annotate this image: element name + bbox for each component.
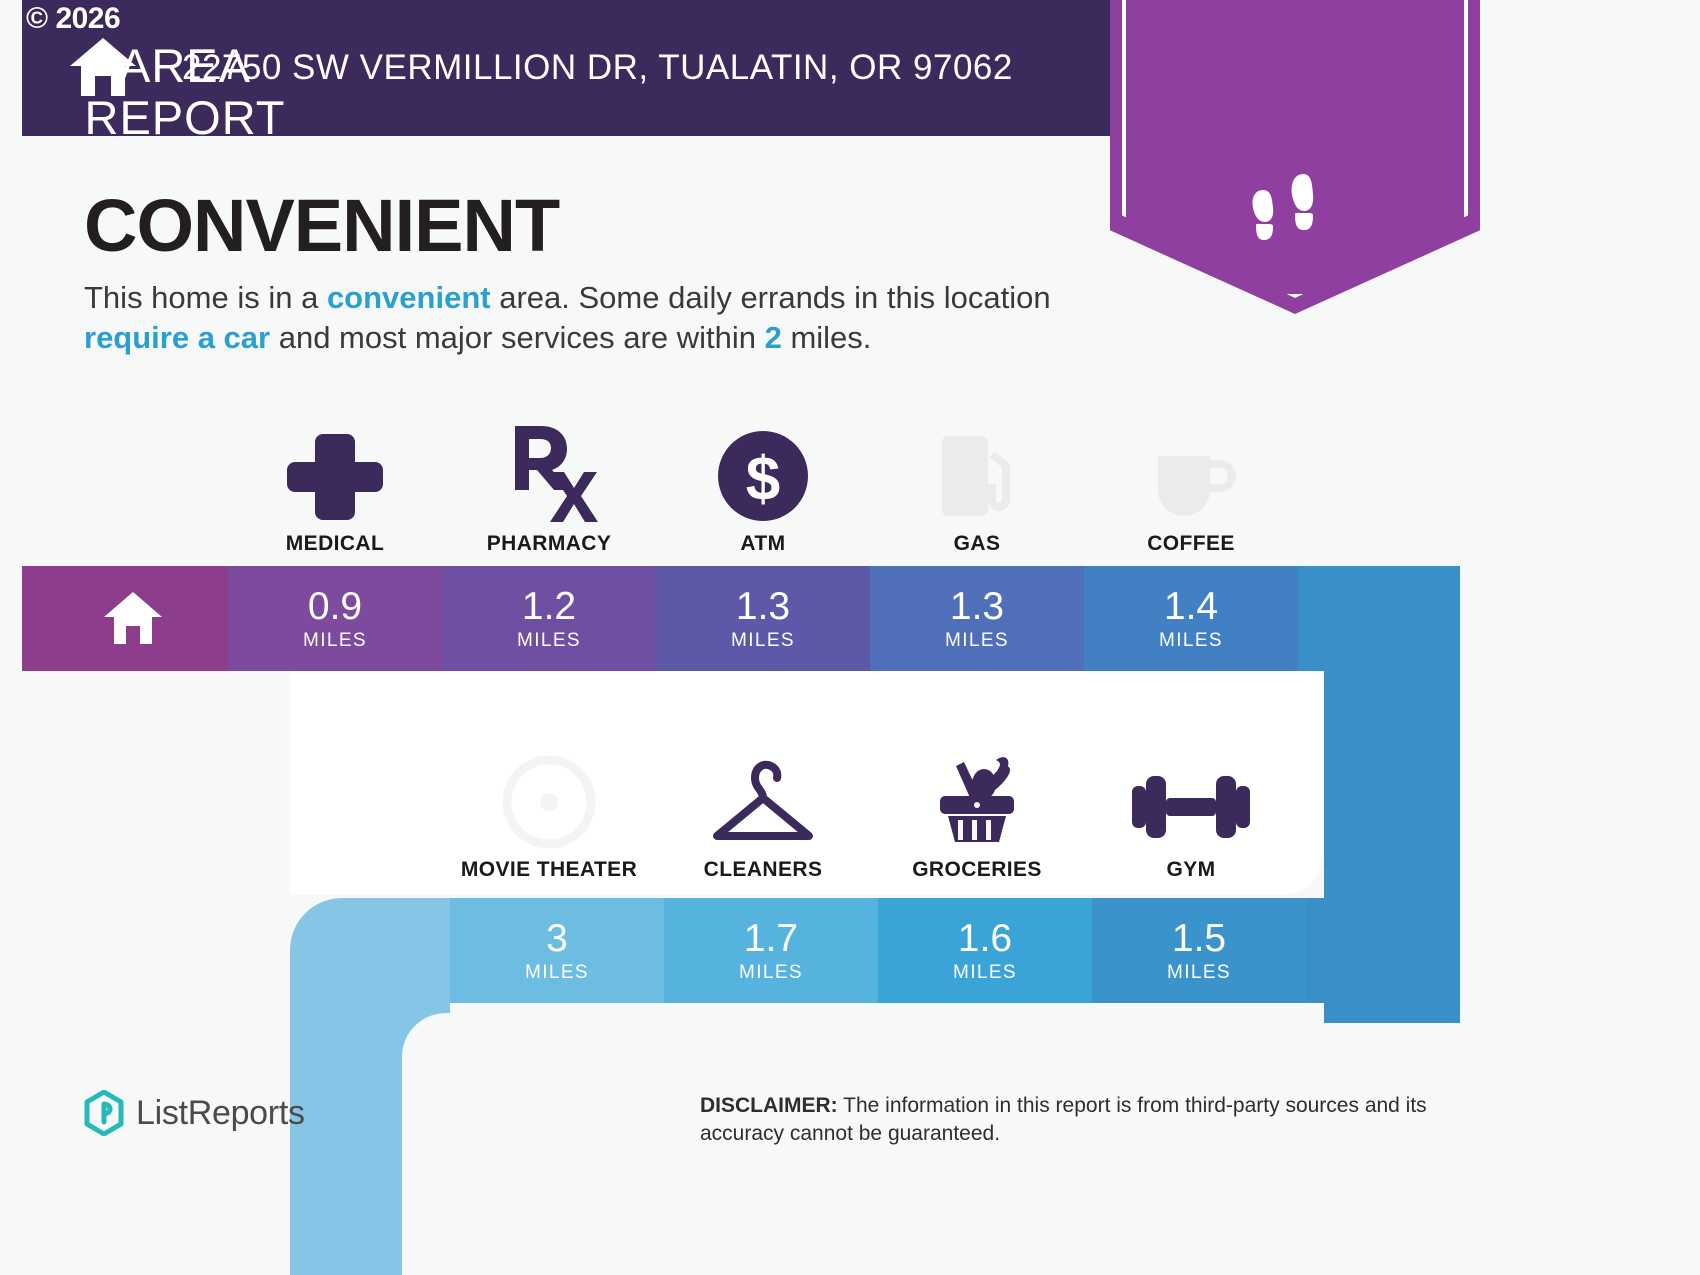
grocery-basket-icon xyxy=(922,750,1032,850)
bar-cell-gas: 1.3 MILES xyxy=(870,566,1084,671)
rx-icon-box xyxy=(442,412,656,524)
description-text: and most major services are within xyxy=(270,320,764,355)
icon-cell-gym: GYM xyxy=(1084,738,1298,882)
area-report-badge xyxy=(1110,0,1480,314)
bar-cell-medical: 0.9 MILES xyxy=(228,566,442,671)
icon-cell-groceries: GROCERIES xyxy=(870,738,1084,882)
gas-pump-icon xyxy=(934,428,1020,524)
hanger-icon xyxy=(703,754,823,850)
listreports-pin-icon xyxy=(84,1090,124,1136)
bar-value-gas: 1.3 xyxy=(870,587,1084,627)
bar-value-gym: 1.5 xyxy=(1092,919,1306,959)
icon-label-coffee: COFFEE xyxy=(1084,532,1298,556)
bar-unit-cleaners: MILES xyxy=(664,962,878,984)
bar-unit-gas: MILES xyxy=(870,630,1084,652)
disclaimer-label: DISCLAIMER: xyxy=(700,1094,838,1117)
medical-cross-icon xyxy=(285,424,385,524)
icon-cell-coffee: COFFEE xyxy=(1084,412,1298,556)
svg-text:$: $ xyxy=(746,445,780,514)
bar-cell-atm: 1.3 MILES xyxy=(656,566,870,671)
movie-reel-icon xyxy=(501,754,597,850)
dumbbell-icon-box xyxy=(1084,738,1298,850)
bar-filler-right-1 xyxy=(1298,566,1460,671)
icon-cell-pharmacy: PHARMACY xyxy=(442,412,656,556)
bar-cell-movie-theater: 3 MILES xyxy=(450,898,664,1003)
bar-unit-medical: MILES xyxy=(228,630,442,652)
bar-value-atm: 1.3 xyxy=(656,587,870,627)
bar-value-coffee: 1.4 xyxy=(1084,587,1298,627)
disclaimer: DISCLAIMER: The information in this repo… xyxy=(700,1092,1500,1148)
bar-value-groceries: 1.6 xyxy=(878,919,1092,959)
description-text: area. Some daily errands in this locatio… xyxy=(491,280,1051,315)
bar-unit-atm: MILES xyxy=(656,630,870,652)
footprints-icon xyxy=(1245,168,1345,246)
home-icon xyxy=(102,590,164,646)
dollar-circle-icon-box: $ xyxy=(656,412,870,524)
icon-label-movie-theater: MOVIE THEATER xyxy=(442,858,656,882)
description-highlight: convenient xyxy=(327,280,491,315)
coffee-cup-icon xyxy=(1146,428,1236,524)
coffee-cup-icon-box xyxy=(1084,412,1298,524)
icon-label-atm: ATM xyxy=(656,532,870,556)
grocery-basket-icon-box xyxy=(870,738,1084,850)
rx-icon xyxy=(499,420,599,524)
hanger-icon-box xyxy=(656,738,870,850)
icon-label-gym: GYM xyxy=(1084,858,1298,882)
description-text: This home is in a xyxy=(84,280,327,315)
badge-inner-border xyxy=(1122,0,1468,298)
icon-cell-medical: MEDICAL xyxy=(228,412,442,556)
description-highlight: require a car xyxy=(84,320,270,355)
listreports-logo: ListReports xyxy=(84,1090,305,1136)
bar-value-medical: 0.9 xyxy=(228,587,442,627)
description-highlight: 2 xyxy=(765,320,782,355)
bar-value-cleaners: 1.7 xyxy=(664,919,878,959)
bar-unit-gym: MILES xyxy=(1092,962,1306,984)
bar-cell-pharmacy: 1.2 MILES xyxy=(442,566,656,671)
icon-cell-cleaners: CLEANERS xyxy=(656,738,870,882)
dollar-circle-icon: $ xyxy=(715,428,811,524)
page-description: This home is in a convenient area. Some … xyxy=(84,278,1074,358)
bar-filler-left-2 xyxy=(290,898,450,1003)
bar-unit-movie-theater: MILES xyxy=(450,962,664,984)
icon-row-bottom: MOVIE THEATER CLEANERS xyxy=(0,738,1700,888)
page-title: CONVENIENT xyxy=(84,186,559,266)
bar-cell-coffee: 1.4 MILES xyxy=(1084,566,1298,671)
bar-cell-gym: 1.5 MILES xyxy=(1092,898,1306,1003)
copyright-label: © 2026 xyxy=(26,2,120,36)
medical-cross-icon-box xyxy=(228,412,442,524)
distance-bar-row-2: 3 MILES 1.7 MILES 1.6 MILES 1.5 MILES xyxy=(290,898,1460,1003)
listreports-logo-text: ListReports xyxy=(136,1094,305,1133)
bar-cell-home xyxy=(22,566,228,671)
area-report-page: © 2026 22750 SW VERMILLION DR, TUALATIN,… xyxy=(0,0,1700,1275)
distance-bar-row-1: 0.9 MILES 1.2 MILES 1.3 MILES 1.3 MILES … xyxy=(22,566,1460,671)
bar-unit-coffee: MILES xyxy=(1084,630,1298,652)
icon-label-pharmacy: PHARMACY xyxy=(442,532,656,556)
movie-reel-icon-box xyxy=(442,738,656,850)
badge-line-1: AREA xyxy=(0,40,370,92)
bar-value-pharmacy: 1.2 xyxy=(442,587,656,627)
icon-label-cleaners: CLEANERS xyxy=(656,858,870,882)
badge-line-2: REPORT xyxy=(0,92,370,144)
icon-cell-movie-theater: MOVIE THEATER xyxy=(442,738,656,882)
icon-cell-atm: $ ATM xyxy=(656,412,870,556)
bar-unit-groceries: MILES xyxy=(878,962,1092,984)
description-text: miles. xyxy=(782,320,872,355)
badge-text: AREA REPORT xyxy=(0,40,370,144)
dumbbell-icon xyxy=(1126,764,1256,850)
icon-row-top: MEDICAL PHARMACY $ ATM xyxy=(0,412,1700,562)
gas-pump-icon-box xyxy=(870,412,1084,524)
icon-label-medical: MEDICAL xyxy=(228,532,442,556)
bar-filler-right-2 xyxy=(1306,898,1460,1003)
bar-cell-groceries: 1.6 MILES xyxy=(878,898,1092,1003)
bar-cell-cleaners: 1.7 MILES xyxy=(664,898,878,1003)
bar-value-movie-theater: 3 xyxy=(450,919,664,959)
bar-unit-pharmacy: MILES xyxy=(442,630,656,652)
icon-label-groceries: GROCERIES xyxy=(870,858,1084,882)
icon-cell-gas: GAS xyxy=(870,412,1084,556)
icon-label-gas: GAS xyxy=(870,532,1084,556)
